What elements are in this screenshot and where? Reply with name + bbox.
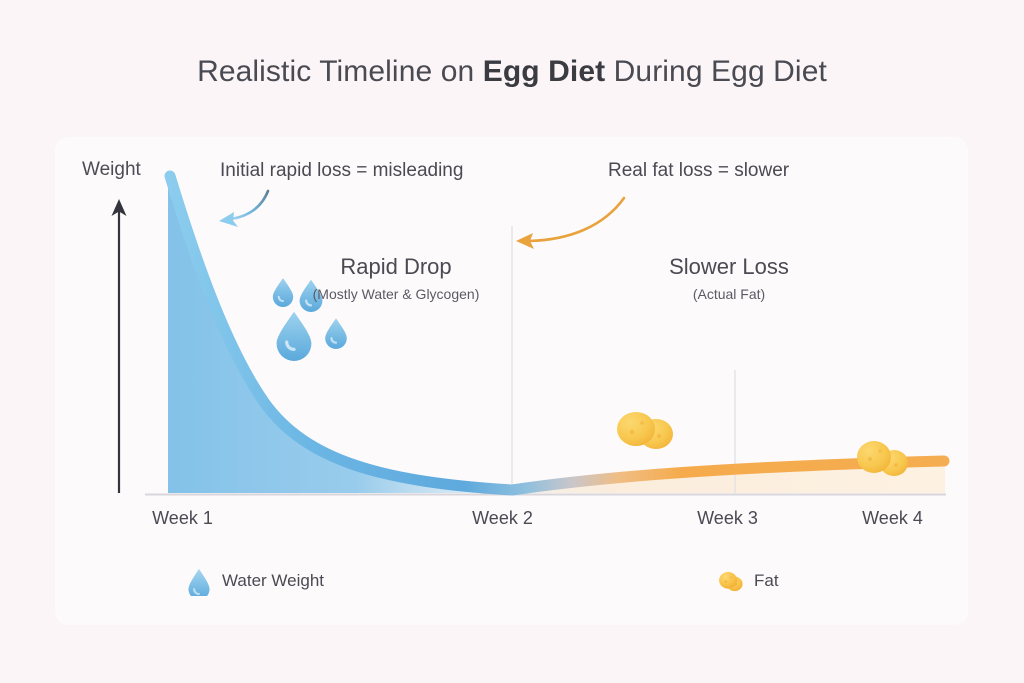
x-tick-week-3: Week 3: [655, 508, 800, 529]
phase-slower-loss: Slower Loss (Actual Fat): [640, 254, 818, 302]
phase-rapid-drop: Rapid Drop (Mostly Water & Glycogen): [268, 254, 524, 302]
phase-rapid-drop-title: Rapid Drop: [268, 254, 524, 280]
phase-rapid-drop-subtitle: (Mostly Water & Glycogen): [268, 286, 524, 302]
x-tick-week-2: Week 2: [430, 508, 575, 529]
legend-label-fat: Fat: [754, 571, 779, 591]
y-axis-label: Weight: [82, 159, 141, 181]
page-title-lead: Realistic Timeline on: [197, 55, 483, 88]
phase-slower-loss-title: Slower Loss: [640, 254, 818, 280]
water-drop-icon: [186, 566, 212, 596]
legend-item-fat: Fat: [718, 566, 779, 596]
fat-blob-icon: [718, 566, 744, 596]
page-title-emphasis: Egg Diet: [483, 55, 605, 88]
x-tick-week-4: Week 4: [820, 508, 965, 529]
infographic-stage: Realistic Timeline on Egg Diet During Eg…: [0, 0, 1024, 683]
legend-item-water-weight: Water Weight: [186, 566, 324, 596]
legend-label-water-weight: Water Weight: [222, 571, 324, 591]
x-tick-week-1: Week 1: [110, 508, 255, 529]
chart-card: [55, 137, 968, 625]
phase-slower-loss-subtitle: (Actual Fat): [640, 286, 818, 302]
annotation-fat-text: Real fat loss = slower: [608, 160, 789, 182]
annotation-water-text: Initial rapid loss = misleading: [220, 160, 463, 182]
page-title: Realistic Timeline on Egg Diet During Eg…: [0, 55, 1024, 89]
page-title-trail: During Egg Diet: [605, 55, 827, 88]
